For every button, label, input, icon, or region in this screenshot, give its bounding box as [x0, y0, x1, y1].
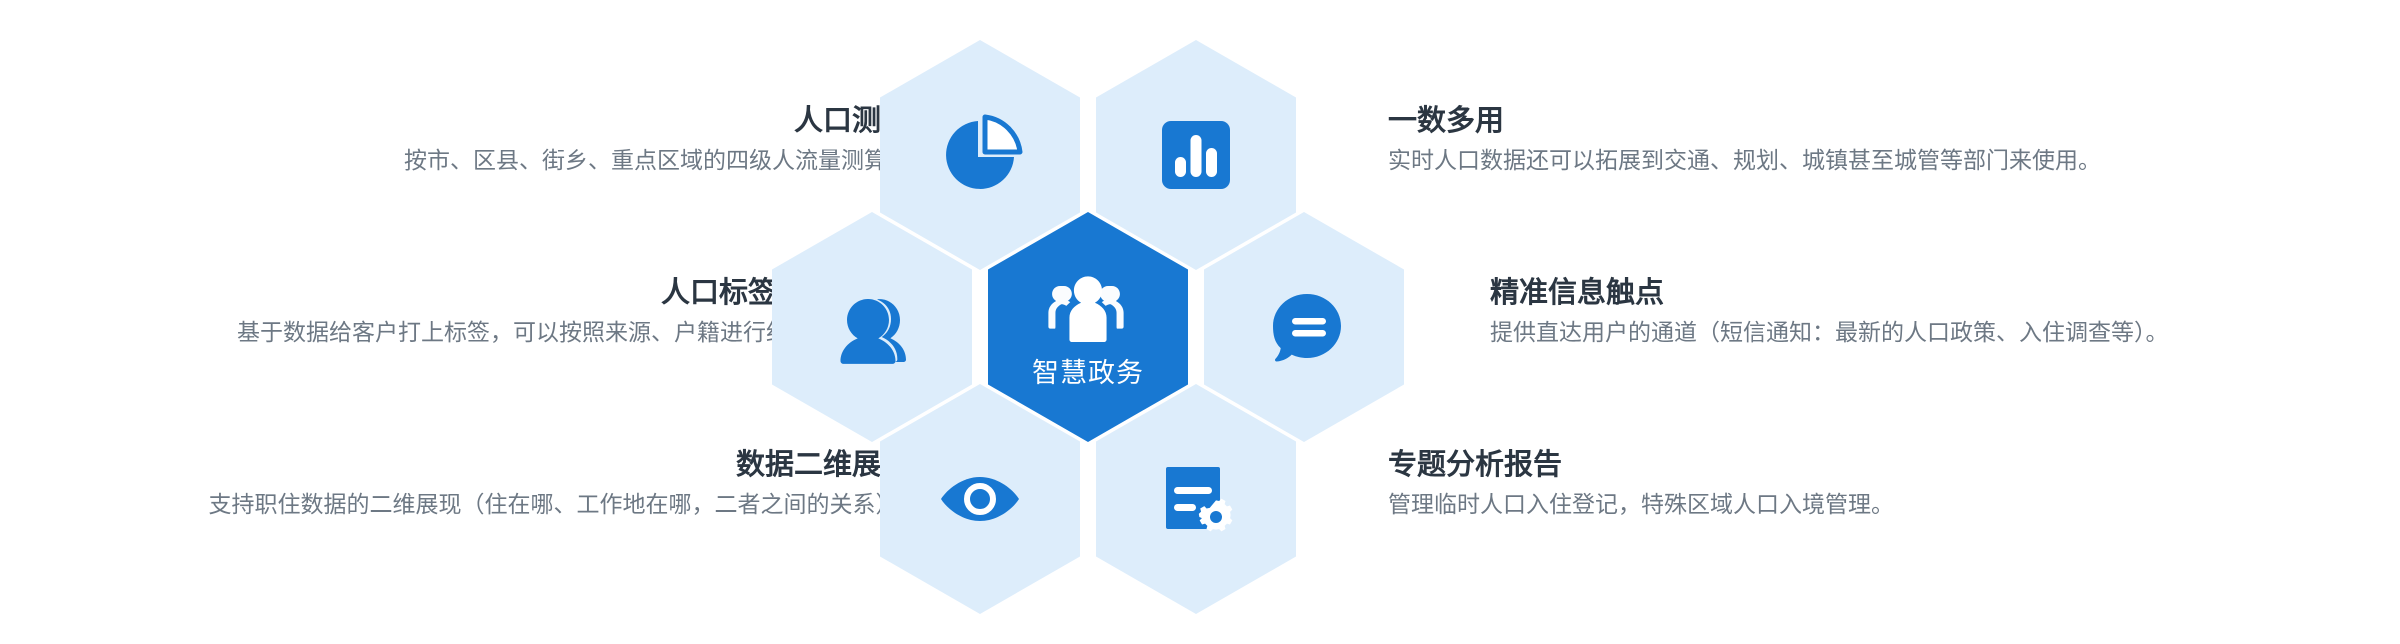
feature-title: 人口测算 — [404, 103, 910, 139]
feature-title: 数据二维展现 — [209, 447, 911, 483]
pie-chart-icon — [930, 105, 1030, 205]
feature-text-population-tagging: 人口标签细分 基于数据给客户打上标签，可以按照来源、户籍进行细分。 — [237, 275, 835, 348]
feature-description: 支持职住数据的二维展现（住在哪、工作地在哪，二者之间的关系）。 — [209, 490, 911, 520]
feature-title: 人口标签细分 — [237, 275, 835, 311]
feature-description: 提供直达用户的通道（短信通知：最新的人口政策、入住调查等）。 — [1490, 318, 2169, 348]
hexagon-honeycomb: 智慧政务 — [880, 22, 1520, 622]
eye-icon — [930, 449, 1030, 549]
bar-chart-icon — [1146, 105, 1246, 205]
feature-title: 精准信息触点 — [1490, 275, 2169, 311]
feature-description: 基于数据给客户打上标签，可以按照来源、户籍进行细分。 — [237, 318, 835, 348]
feature-text-two-dimensional-view: 数据二维展现 支持职住数据的二维展现（住在哪、工作地在哪，二者之间的关系）。 — [209, 447, 911, 520]
center-label: 智慧政务 — [1032, 360, 1144, 387]
feature-description: 按市、区县、街乡、重点区域的四级人流量测算。 — [404, 146, 910, 176]
single-user-icon — [822, 277, 922, 377]
infographic-canvas: 人口测算 按市、区县、街乡、重点区域的四级人流量测算。 人口标签细分 基于数据给… — [0, 0, 2400, 644]
user-group-icon — [1040, 268, 1136, 352]
feature-text-precise-touchpoint: 精准信息触点 提供直达用户的通道（短信通知：最新的人口政策、入住调查等）。 — [1490, 275, 2169, 348]
feature-text-population-estimation: 人口测算 按市、区县、街乡、重点区域的四级人流量测算。 — [404, 103, 910, 176]
document-gear-icon — [1146, 449, 1246, 549]
chat-bubble-icon — [1254, 277, 1354, 377]
